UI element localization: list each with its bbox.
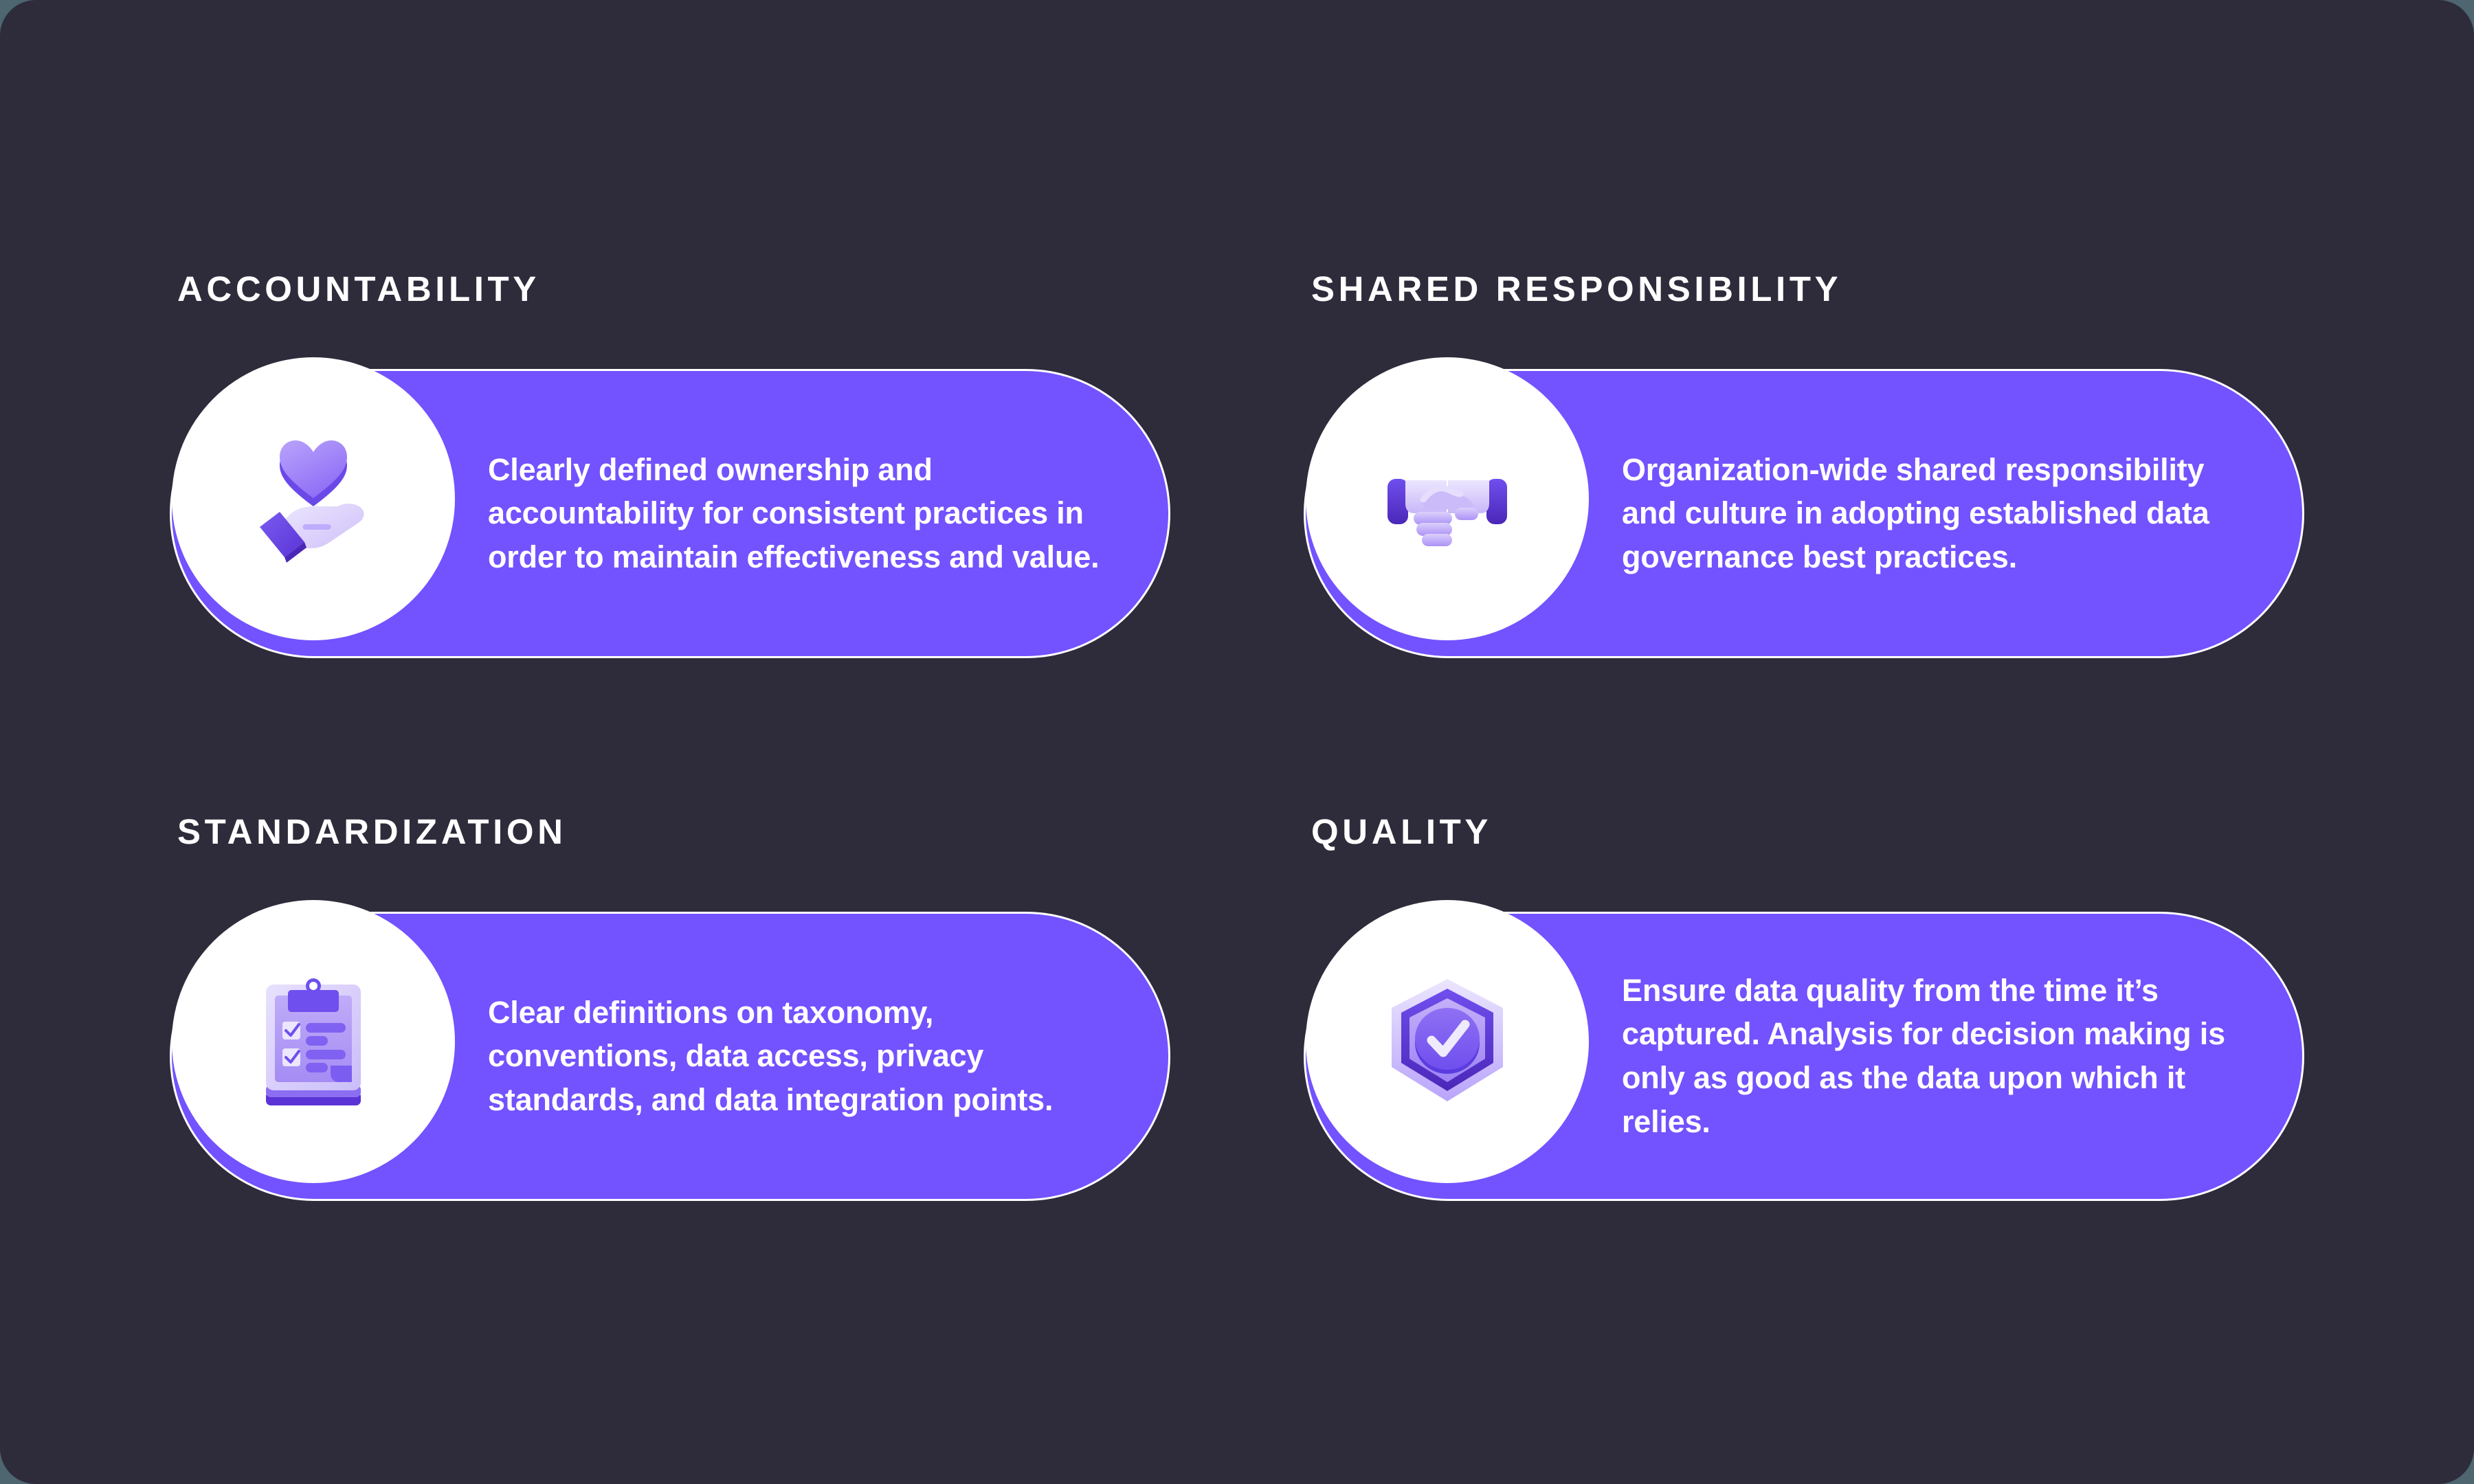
card-title: STANDARDIZATION [177, 814, 567, 849]
principle-card-shared-responsibility[interactable]: SHARED RESPONSIBILITY Organization-wide … [1306, 271, 2302, 656]
shield-check-icon [1375, 969, 1519, 1114]
heart-in-hand-icon [241, 427, 386, 571]
clipboard-checklist-icon [241, 969, 386, 1114]
poster-canvas: ACCOUNTABILITY Clearly defined ownership… [0, 0, 2474, 1484]
card-icon-circle [172, 357, 455, 640]
card-title: QUALITY [1311, 814, 1492, 849]
principles-row-1: ACCOUNTABILITY Clearly defined ownership… [172, 271, 2302, 814]
principles-row-2: STANDARDIZATION Clear definitions on tax… [172, 814, 2302, 1357]
principles-grid: ACCOUNTABILITY Clearly defined ownership… [172, 271, 2302, 1357]
card-icon-circle [1306, 357, 1589, 640]
card-title: ACCOUNTABILITY [177, 271, 540, 306]
principle-card-quality[interactable]: QUALITY Ensure data quality from the tim… [1306, 814, 2302, 1199]
card-body-text: Ensure data quality from the time it’s c… [1622, 969, 2253, 1145]
card-title: SHARED RESPONSIBILITY [1311, 271, 1842, 306]
card-body-text: Clearly defined ownership and accountabi… [488, 448, 1119, 580]
card-body-text: Clear definitions on taxonomy, conventio… [488, 991, 1119, 1123]
principle-card-accountability[interactable]: ACCOUNTABILITY Clearly defined ownership… [172, 271, 1168, 656]
handshake-icon [1375, 427, 1519, 571]
principle-card-standardization[interactable]: STANDARDIZATION Clear definitions on tax… [172, 814, 1168, 1199]
card-icon-circle [172, 900, 455, 1183]
card-icon-circle [1306, 900, 1589, 1183]
card-body-text: Organization-wide shared responsibility … [1622, 448, 2253, 580]
